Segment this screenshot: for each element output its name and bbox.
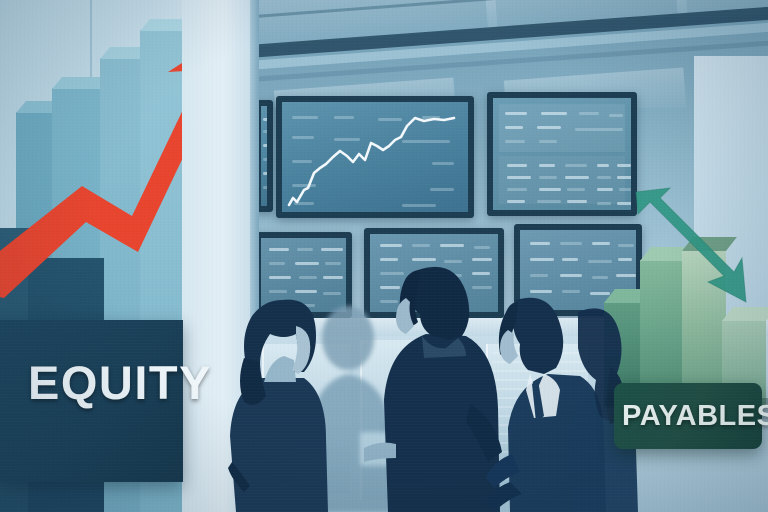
payables-label: PAYABLES <box>622 396 762 436</box>
illustration-scene: EQUITY PAYABLES <box>0 0 768 512</box>
equity-label: EQUITY <box>28 352 188 414</box>
data-table-monitor-top-right[interactable] <box>487 92 637 216</box>
line-chart-monitor[interactable] <box>276 96 474 218</box>
ticker-line-chart-svg <box>282 102 468 212</box>
down-arrow <box>630 180 762 310</box>
analyst-woman-left <box>208 286 338 512</box>
